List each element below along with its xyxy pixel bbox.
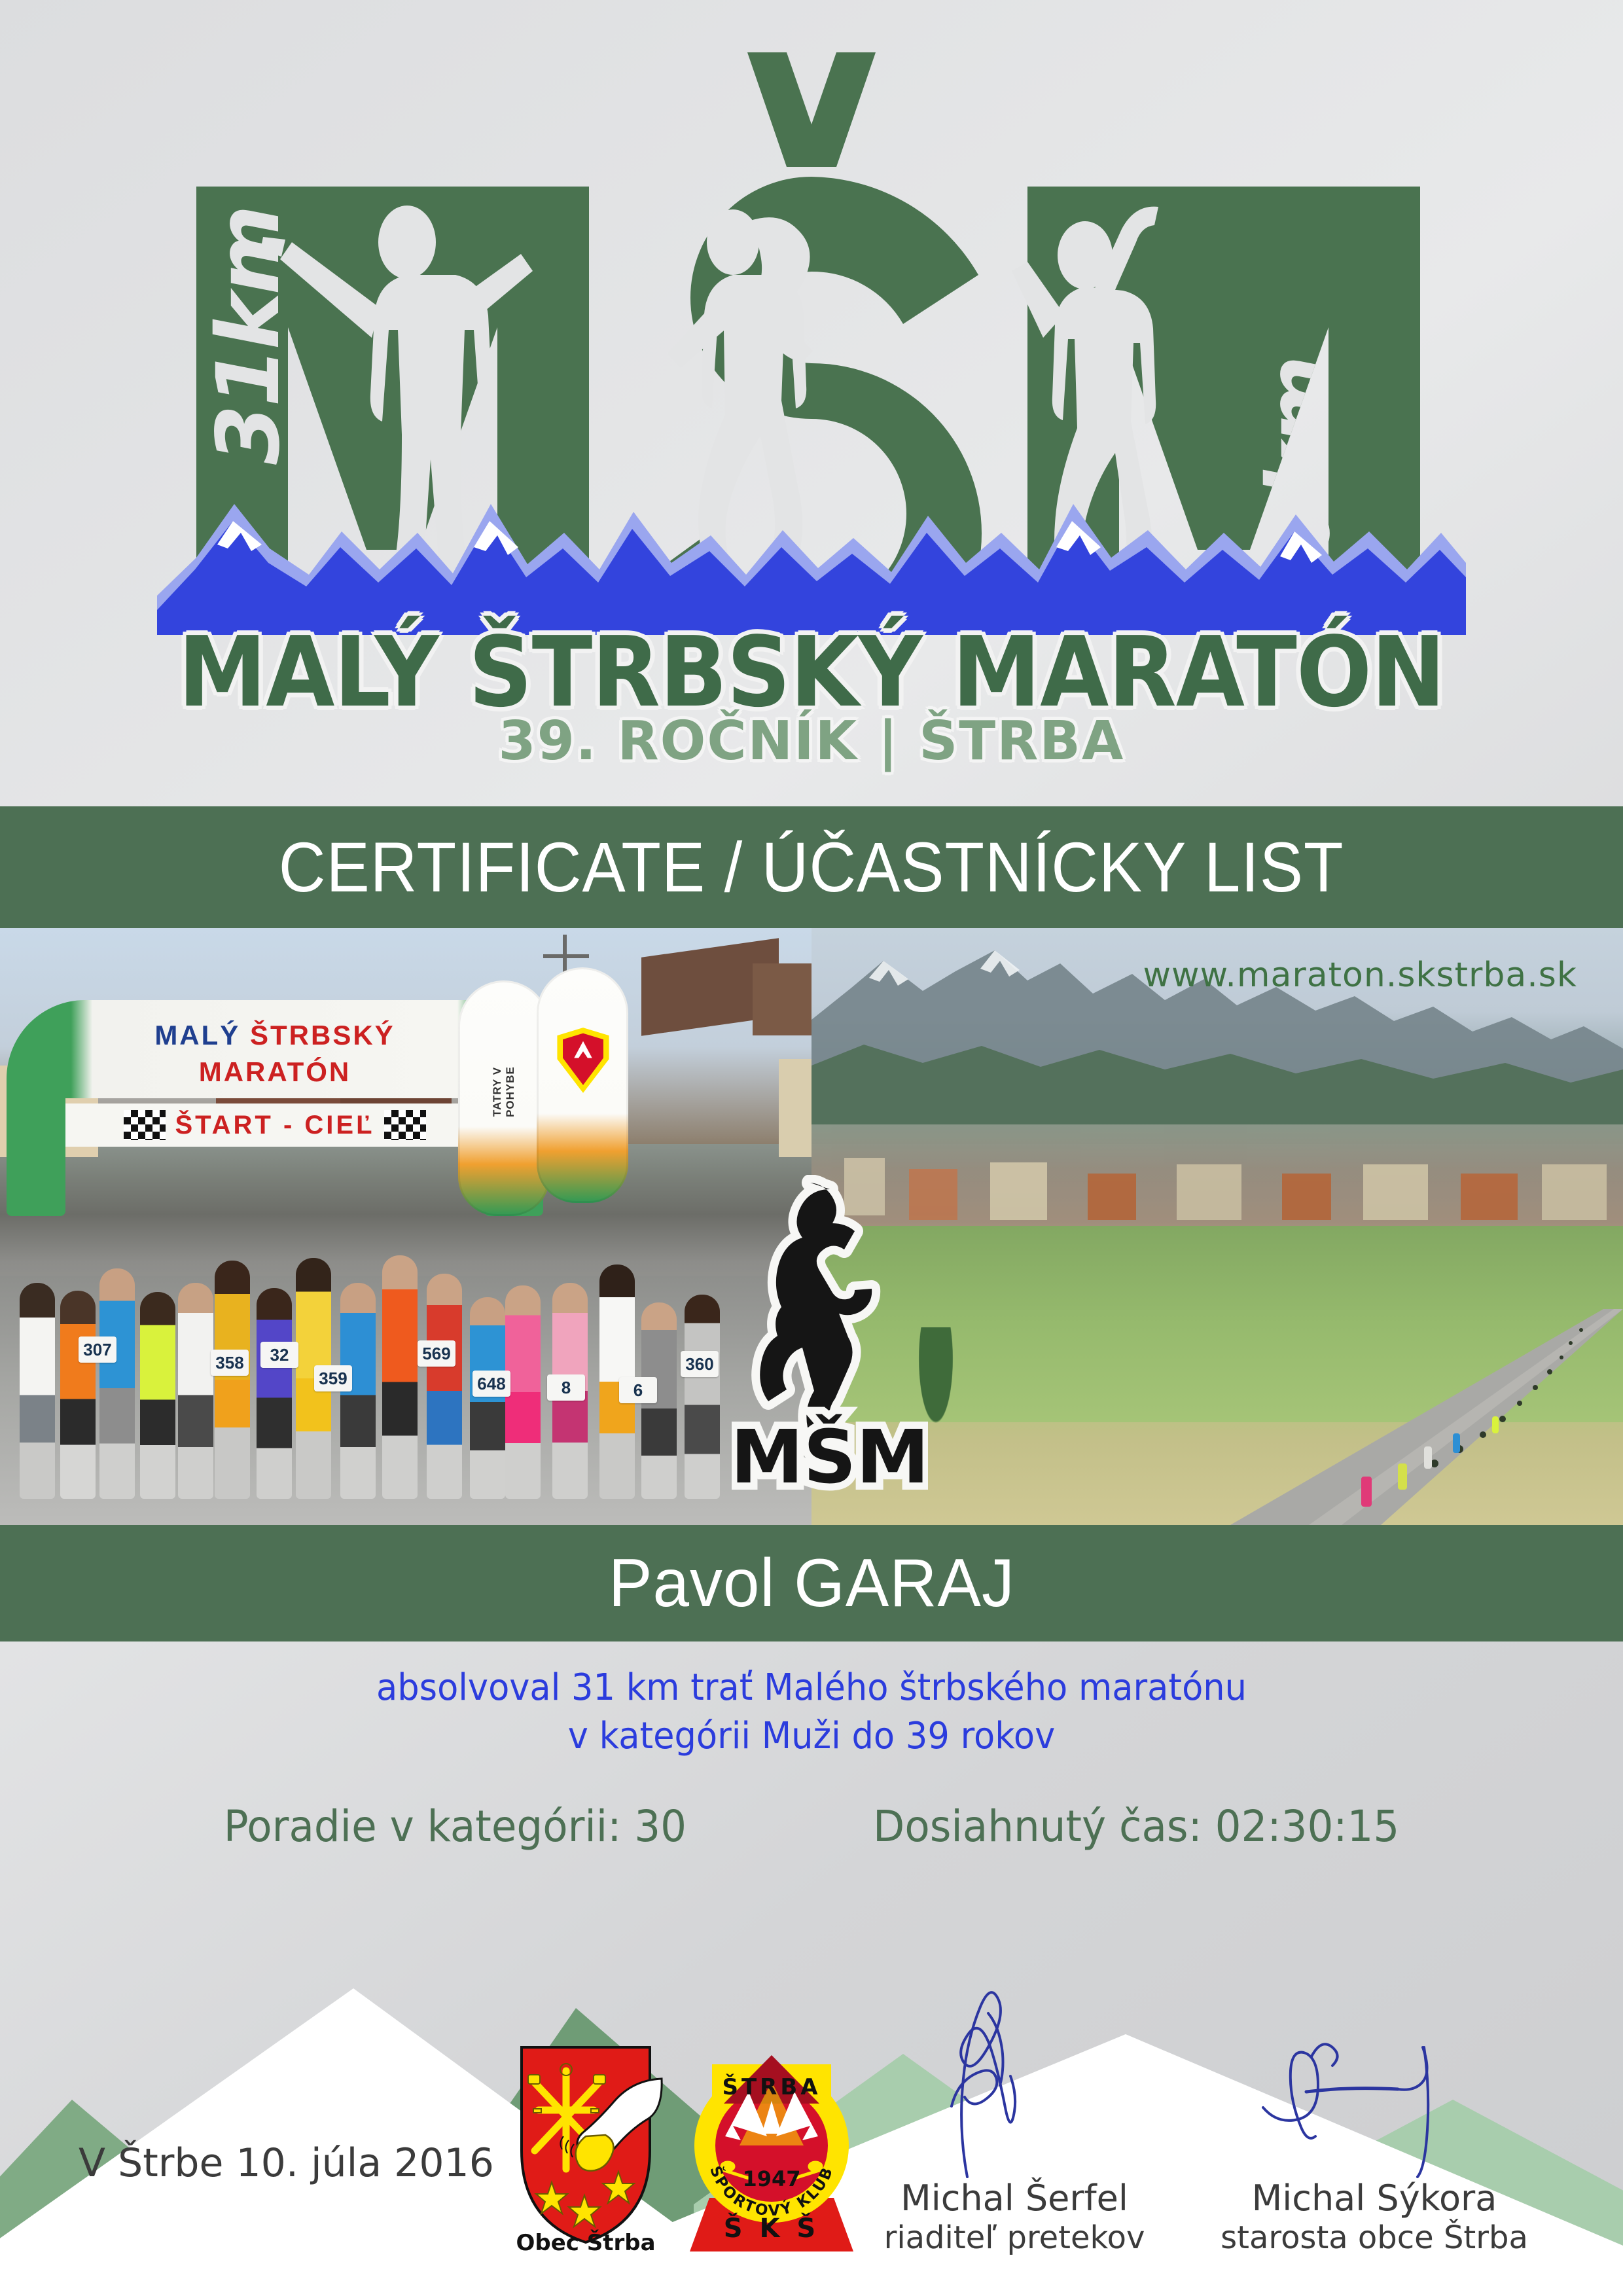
footer-section: V Štrbe 10. júla 2016 <box>0 2021 1623 2296</box>
certificate-title: CERTIFICATE / ÚČASTNÍCKY LIST <box>279 831 1344 903</box>
event-sub-title: 39. ROČNÍK | ŠTRBA <box>0 713 1623 770</box>
caron-accent <box>747 52 876 167</box>
bib-number: 32 <box>260 1342 298 1368</box>
signature-role: riaditeľ pretekov <box>857 2219 1171 2257</box>
msm-sticker-runner <box>760 1183 872 1427</box>
certificate-page: 31km <box>0 0 1623 2296</box>
photo-tatras-landscape: www.maraton.skstrba.sk <box>811 928 1623 1525</box>
signature-sykora <box>1243 1983 1505 2179</box>
bib-number: 6 <box>619 1377 657 1403</box>
obec-strba-caption: Obec Štrba <box>516 2229 655 2256</box>
signature-block-mayor: Michal Sýkora starosta obce Štrba <box>1204 2178 1544 2257</box>
arch-word-maly: MALÝ <box>154 1020 240 1050</box>
checker-flag-left-icon <box>124 1110 166 1140</box>
msm-logo-svg: 31km <box>157 46 1466 635</box>
checker-flag-right-icon <box>384 1110 426 1140</box>
sks-strba-emblem: ŠTRBA 1947 ŠPORTOVÝ KLUB Š K Š <box>686 2041 857 2257</box>
signature-serfel <box>897 1983 1132 2179</box>
msm-sticker-badge: ‹MŠM› <box>732 1175 928 1502</box>
issue-date: V Štrbe 10. júla 2016 <box>79 2142 494 2185</box>
website-url: www.maraton.skstrba.sk <box>1143 956 1577 995</box>
mountain-range-blue <box>157 504 1466 635</box>
description-line-1: absolvoval 31 km trať Malého štrbského m… <box>48 1664 1574 1712</box>
header-section: 31km <box>0 0 1623 796</box>
photo-race-start: MALÝ ŠTRBSKÝ MARATÓN ŠTART - CIEĽ TATRY … <box>0 928 811 1525</box>
bib-number: 359 <box>314 1365 352 1391</box>
bib-number: 307 <box>79 1336 116 1363</box>
arch-word-strbsky: ŠTRBSKÝ <box>250 1020 395 1050</box>
signature-role: starosta obce Štrba <box>1204 2219 1544 2257</box>
arch-text: MALÝ ŠTRBSKÝ MARATÓN <box>79 1017 471 1090</box>
bib-number: 569 <box>418 1340 455 1367</box>
sks-year: 1947 <box>742 2166 800 2191</box>
country-road <box>1034 1309 1623 1525</box>
runner-crowd: 307 358 32 359 569 648 8 6 360 <box>0 1158 811 1499</box>
signature-block-director: Michal Šerfel riaditeľ pretekov <box>857 2178 1171 2257</box>
msm-sticker-wordmark: ‹MŠM› <box>732 1414 928 1500</box>
bib-number: 358 <box>211 1350 249 1376</box>
sks-top-text: ŠTRBA <box>722 2073 821 2100</box>
msm-logo: 31km <box>0 46 1623 635</box>
svg-text:31km: 31km <box>198 207 299 465</box>
event-main-title: MALÝ ŠTRBSKÝ MARATÓN <box>0 623 1623 721</box>
bib-number: 8 <box>547 1374 585 1401</box>
msm-sticker-label: ‹MŠM› <box>732 1414 928 1500</box>
description-line-2: v kategórii Muži do 39 rokov <box>48 1712 1574 1761</box>
signature-name: Michal Sýkora <box>1204 2178 1544 2219</box>
arch-word-maraton: MARATÓN <box>199 1056 351 1087</box>
sks-abbrev: Š K Š <box>724 2212 819 2244</box>
participant-name-band: Pavol GARAJ <box>0 1525 1623 1641</box>
bib-number: 648 <box>473 1371 510 1397</box>
obec-strba-emblem: Obec Štrba <box>507 2041 664 2257</box>
participant-name: Pavol GARAJ <box>609 1548 1015 1619</box>
certificate-title-banner: CERTIFICATE / ÚČASTNÍCKY LIST <box>0 806 1623 928</box>
signature-name: Michal Šerfel <box>857 2178 1171 2219</box>
start-finish-banner: ŠTART - CIEĽ <box>65 1103 484 1147</box>
sponsor-flag-label: TATRY V POHYBE <box>491 1046 517 1138</box>
participant-description: absolvoval 31 km trať Malého štrbského m… <box>48 1664 1574 1761</box>
start-finish-text: ŠTART - CIEĽ <box>166 1111 383 1140</box>
bib-number: 360 <box>681 1351 719 1377</box>
strba-village <box>811 1124 1623 1236</box>
sks-badge-icon <box>555 1026 611 1094</box>
